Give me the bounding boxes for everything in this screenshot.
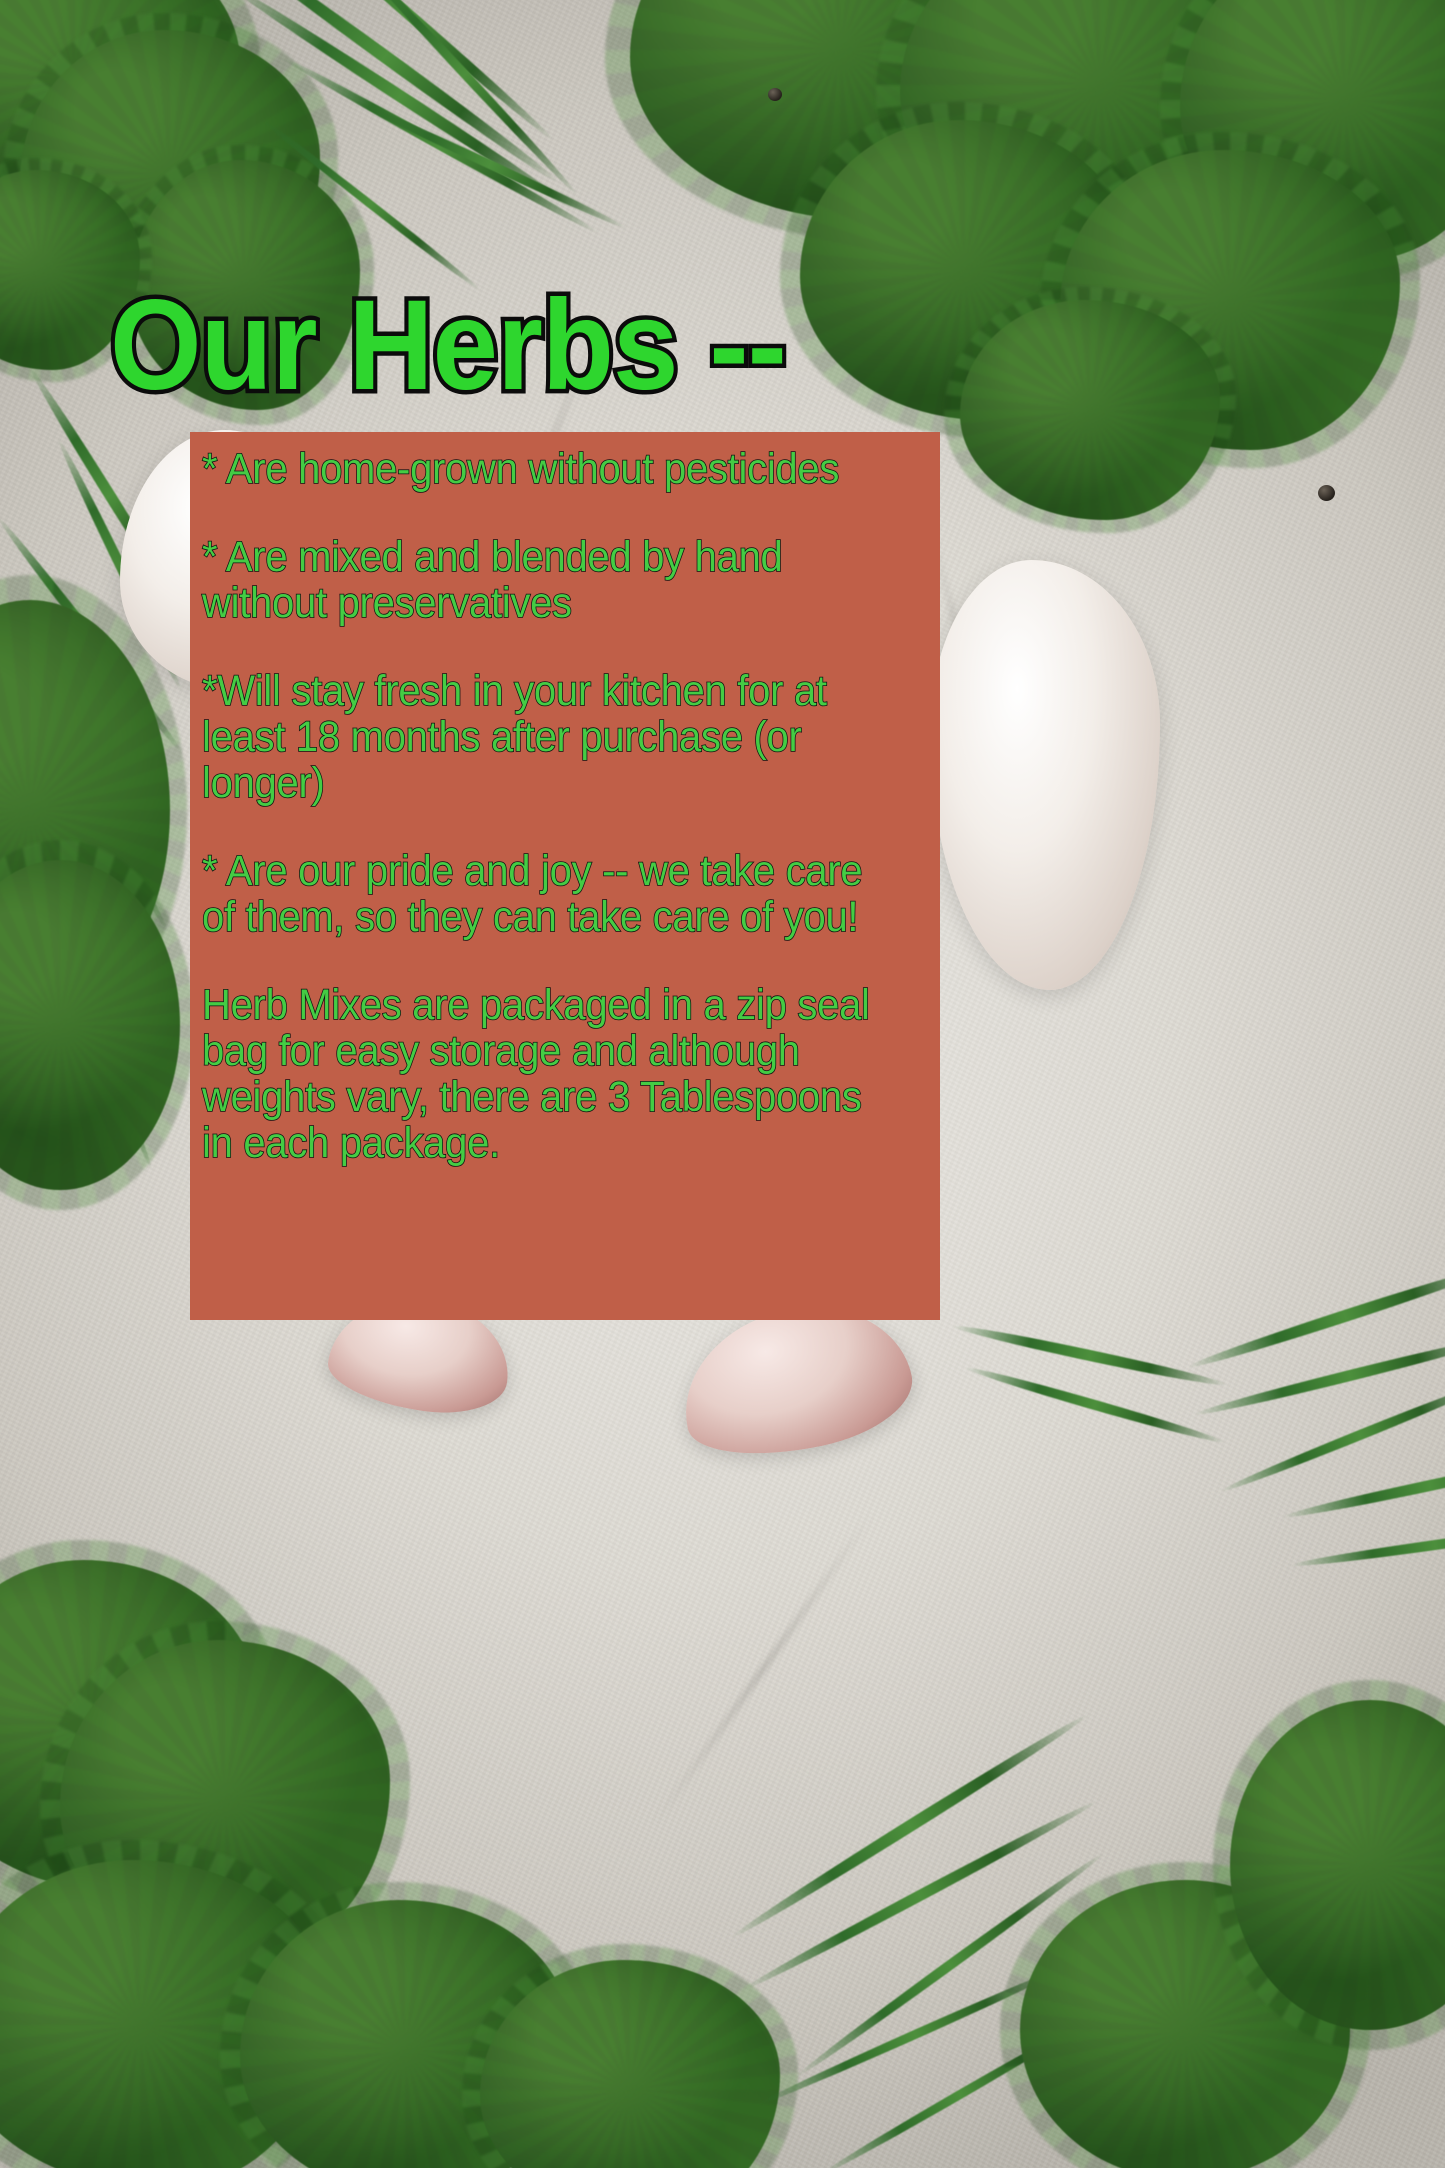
feature-paragraph-4: * Are our pride and joy -- we take care … [202, 848, 879, 940]
content-panel: * Are home-grown without pesticides * Ar… [190, 432, 940, 1320]
rosemary-sprig [950, 1330, 1250, 1550]
rosemary-sprig [700, 1780, 1220, 2168]
content-panel-body: * Are home-grown without pesticides * Ar… [202, 446, 930, 1166]
poster-canvas: Our Herbs -- * Are home-grown without pe… [0, 0, 1445, 2168]
feature-paragraph-3: *Will stay fresh in your kitchen for at … [202, 668, 879, 806]
poster-title: Our Herbs -- [110, 282, 786, 410]
peppercorn [1318, 485, 1335, 501]
feature-paragraph-1: * Are home-grown without pesticides [202, 446, 879, 492]
packaging-paragraph: Herb Mixes are packaged in a zip seal ba… [202, 982, 879, 1166]
peppercorn [768, 88, 782, 101]
rosemary-sprig [1280, 1460, 1445, 1720]
feature-paragraph-2: * Are mixed and blended by hand without … [202, 534, 879, 626]
